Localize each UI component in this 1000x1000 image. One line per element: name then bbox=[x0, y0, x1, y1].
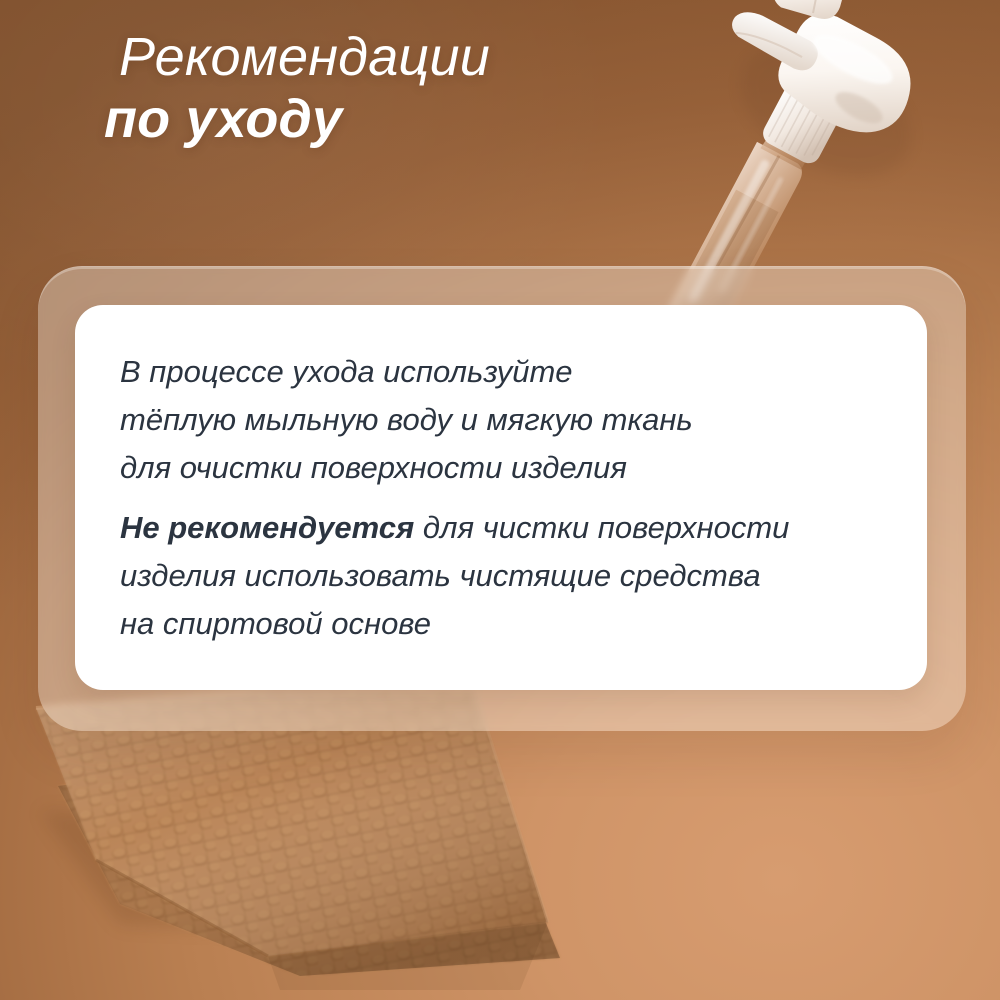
paragraph-1-line-1: В процессе ухода используйте bbox=[120, 348, 920, 396]
paragraph-2-line-1: Не рекомендуется для чистки поверхности bbox=[120, 504, 920, 552]
instruction-paragraph-1: В процессе ухода используйте тёплую мыль… bbox=[120, 348, 920, 492]
paragraph-2-line-2: изделия использовать чистящие средства bbox=[120, 552, 920, 600]
instruction-paragraph-2: Не рекомендуется для чистки поверхности … bbox=[120, 504, 920, 648]
page-title: Рекомендации по уходу bbox=[100, 30, 490, 146]
paragraph-2-line-1-rest: для чистки поверхности bbox=[414, 510, 789, 545]
paragraph-1-line-3: для очистки поверхности изделия bbox=[120, 444, 920, 492]
not-recommended-emphasis: Не рекомендуется bbox=[120, 510, 414, 545]
care-instructions-text: В процессе ухода используйте тёплую мыль… bbox=[120, 348, 920, 648]
paragraph-2-line-3: на спиртовой основе bbox=[120, 600, 920, 648]
paragraph-1-line-2: тёплую мыльную воду и мягкую ткань bbox=[120, 396, 920, 444]
care-instructions-poster: Рекомендации по уходу В процессе ухода и… bbox=[0, 0, 1000, 1000]
folded-waffle-towels-icon bbox=[0, 690, 640, 1000]
page-title-line-2: по уходу bbox=[100, 92, 490, 146]
page-title-line-1: Рекомендации bbox=[100, 30, 490, 84]
